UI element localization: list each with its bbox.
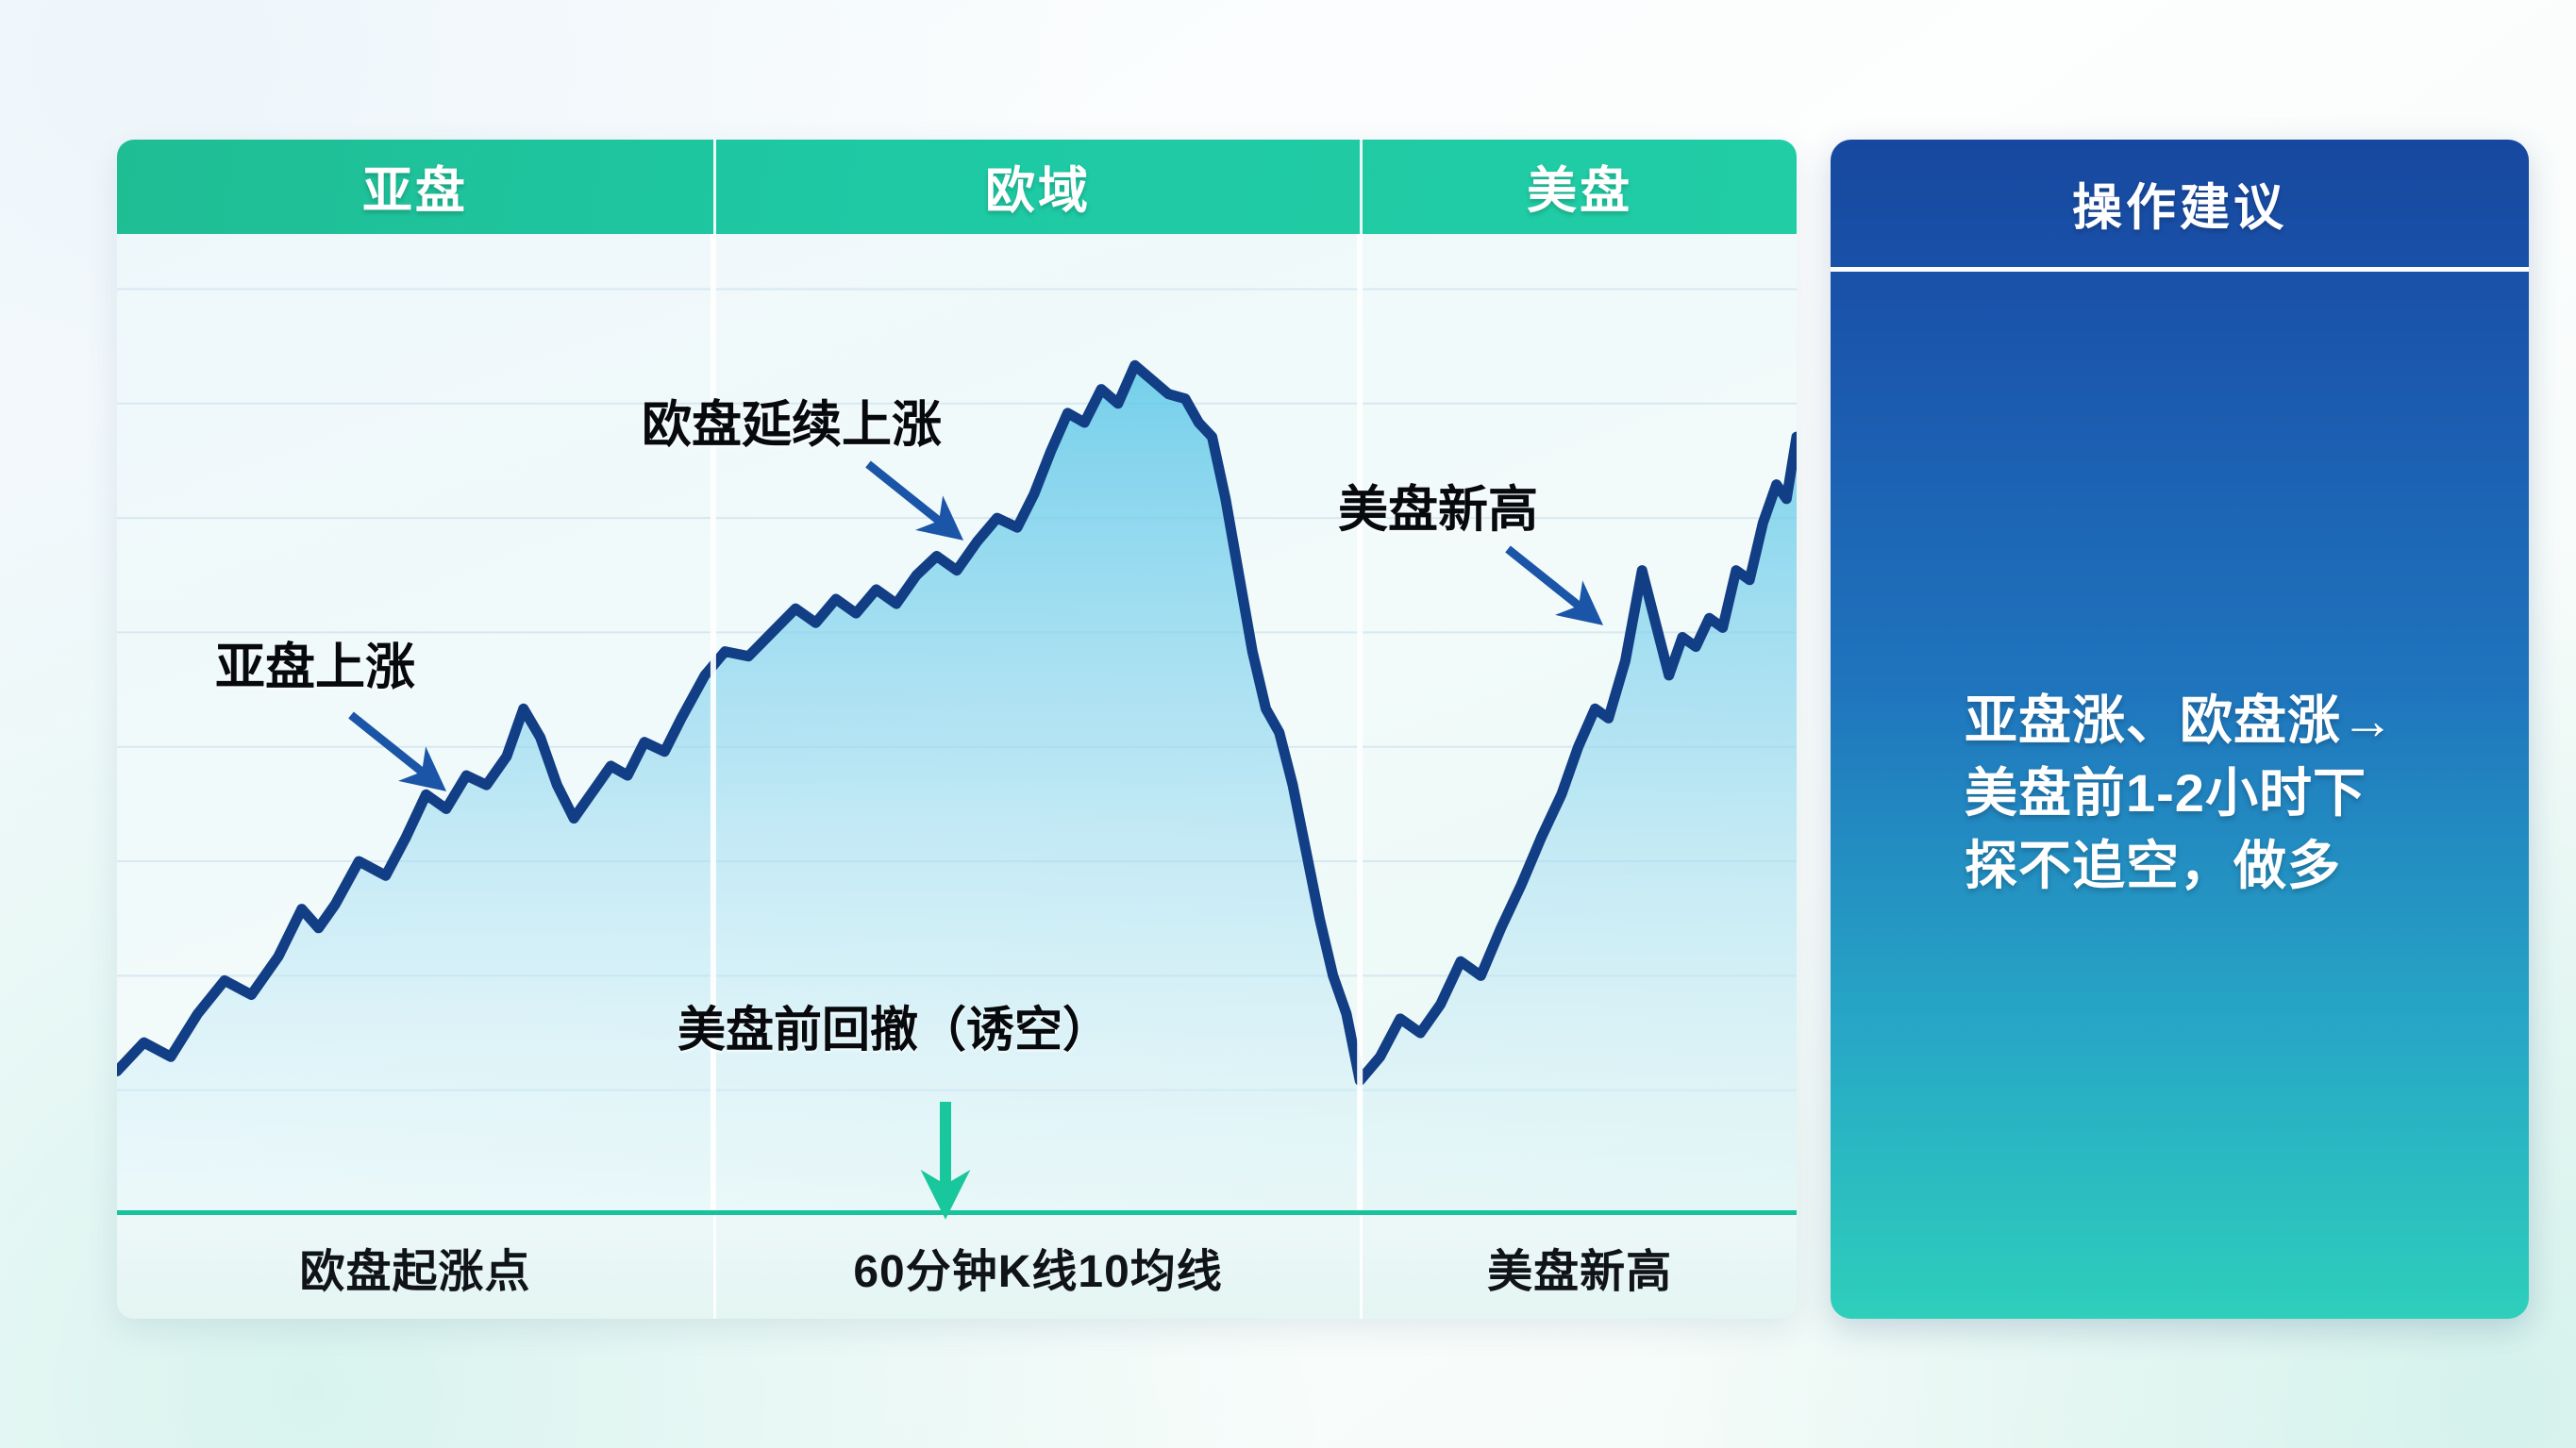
- session-header-europe-label: 欧域: [985, 151, 1091, 223]
- session-chart-card: 亚盘 欧域 美盘: [117, 140, 1797, 1319]
- advice-line-0: 亚盘涨、欧盘涨→: [1965, 684, 2395, 757]
- session-header-us[interactable]: 美盘: [1360, 140, 1797, 234]
- annotation-pre-us-pullback: 美盘前回撤（诱空）: [677, 990, 1111, 1060]
- chart-area-fill: [117, 365, 1797, 1210]
- session-footer-asia-label: 欧盘起涨点: [299, 1234, 530, 1300]
- session-header-us-label: 美盘: [1527, 151, 1632, 223]
- advice-panel-title: 操作建议: [1831, 140, 2529, 272]
- advice-line-1: 美盘前1-2小时下: [1965, 757, 2395, 829]
- session-footer-us[interactable]: 美盘新高: [1360, 1215, 1797, 1319]
- session-footer-us-label: 美盘新高: [1487, 1234, 1672, 1300]
- annotation-us-new-high: 美盘新高: [1338, 470, 1538, 541]
- session-footer-asia[interactable]: 欧盘起涨点: [117, 1215, 713, 1319]
- annotation-europe-continue-rise: 欧盘延续上涨: [642, 385, 942, 457]
- session-header-row: 亚盘 欧域 美盘: [117, 140, 1797, 234]
- session-header-europe[interactable]: 欧域: [713, 140, 1360, 234]
- advice-panel-body: 亚盘涨、欧盘涨→美盘前1-2小时下探不追空，做多: [1831, 272, 2529, 1314]
- session-footer-europe-label: 60分钟K线10均线: [853, 1234, 1222, 1300]
- session-header-asia-label: 亚盘: [362, 151, 468, 223]
- annotation-asia-rise: 亚盘上涨: [215, 627, 415, 699]
- price-chart-svg: [117, 234, 1797, 1210]
- price-area-chart: [117, 234, 1797, 1210]
- advice-panel-text: 亚盘涨、欧盘涨→美盘前1-2小时下探不追空，做多: [1965, 684, 2395, 903]
- advice-panel: 操作建议 亚盘涨、欧盘涨→美盘前1-2小时下探不追空，做多: [1831, 140, 2529, 1319]
- advice-line-2: 探不追空，做多: [1965, 829, 2395, 902]
- session-header-asia[interactable]: 亚盘: [117, 140, 713, 234]
- session-footer-row: 欧盘起涨点 60分钟K线10均线 美盘新高: [117, 1210, 1797, 1319]
- session-footer-europe[interactable]: 60分钟K线10均线: [713, 1215, 1360, 1319]
